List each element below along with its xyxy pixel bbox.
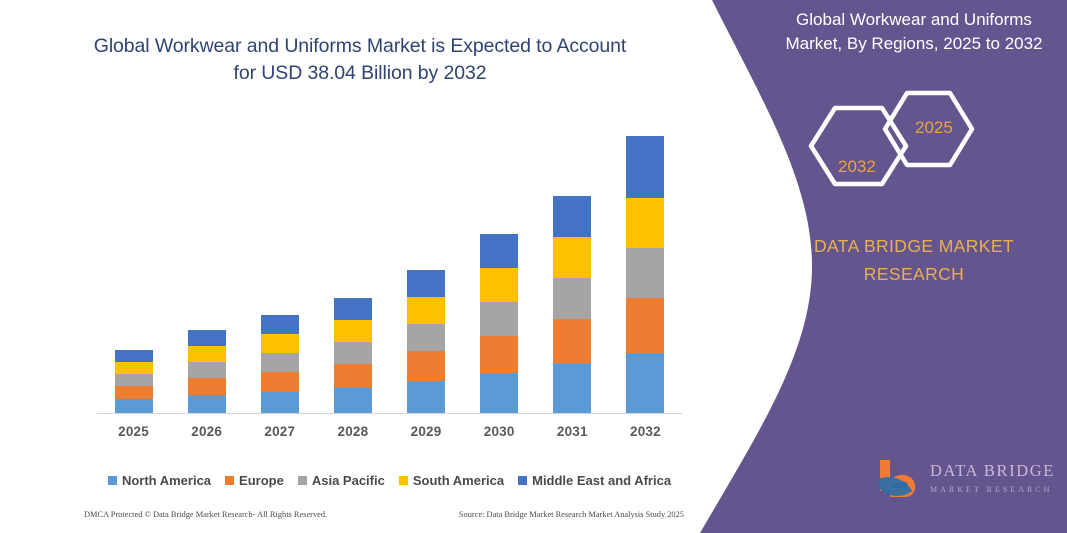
bar-column: [609, 110, 682, 413]
bar-segment: [407, 381, 445, 413]
legend-label: Asia Pacific: [312, 473, 385, 488]
bar-column: [243, 110, 316, 413]
legend-label: Europe: [239, 473, 284, 488]
bar-chart-plot-area: [97, 110, 682, 413]
bar-segment: [188, 362, 226, 378]
bar-segment: [334, 364, 372, 388]
legend-item[interactable]: North America: [108, 473, 211, 488]
bar-segment: [553, 237, 591, 278]
bar-stack: [261, 315, 299, 413]
bar-stack: [480, 234, 518, 413]
bar-segment: [261, 372, 299, 392]
x-axis-label: 2028: [316, 424, 389, 439]
bar-segment: [626, 298, 664, 353]
brand-title-line-2: Market, By Regions, 2025 to 2032: [768, 32, 1060, 56]
legend-swatch-icon: [108, 476, 117, 485]
legend-swatch-icon: [399, 476, 408, 485]
bar-segment: [553, 278, 591, 319]
bar-segment: [407, 270, 445, 297]
brand-title-line-1: Global Workwear and Uniforms: [768, 8, 1060, 32]
bar-stack: [115, 350, 153, 413]
bar-segment: [407, 297, 445, 324]
bar-segment: [480, 268, 518, 302]
bar-segment: [626, 136, 664, 198]
bar-segment: [115, 362, 153, 374]
bar-segment: [188, 346, 226, 362]
bar-column: [536, 110, 609, 413]
bar-segment: [553, 196, 591, 237]
brand-panel-title: Global Workwear and Uniforms Market, By …: [768, 8, 1060, 56]
legend-item[interactable]: South America: [399, 473, 504, 488]
bar-segment: [626, 248, 664, 298]
chart-panel: Global Workwear and Uniforms Market is E…: [0, 0, 715, 533]
bar-segment: [261, 392, 299, 413]
chart-title-line-2: for USD 38.04 Billion by 2032: [55, 60, 665, 87]
bar-column: [463, 110, 536, 413]
x-axis-label: 2029: [390, 424, 463, 439]
bar-segment: [553, 319, 591, 364]
bar-segment: [334, 342, 372, 364]
brand-name-line-1: DATA BRIDGE MARKET: [768, 232, 1060, 260]
x-axis-label: 2025: [97, 424, 170, 439]
legend-item[interactable]: Europe: [225, 473, 284, 488]
bar-column: [97, 110, 170, 413]
chart-legend: North AmericaEuropeAsia PacificSouth Ame…: [97, 470, 682, 490]
bar-segment: [334, 298, 372, 320]
bar-stack: [626, 136, 664, 413]
bar-segment: [480, 336, 518, 373]
bar-segment: [334, 388, 372, 413]
brand-panel-content: Global Workwear and Uniforms Market, By …: [760, 0, 1067, 533]
footer-copyright: DMCA Protected © Data Bridge Market Rese…: [84, 510, 327, 519]
bar-column: [170, 110, 243, 413]
bar-segment: [553, 364, 591, 413]
bar-segment: [188, 395, 226, 413]
legend-swatch-icon: [298, 476, 307, 485]
hexagon-outlines-icon: [760, 88, 1067, 198]
bar-segment: [261, 334, 299, 353]
legend-swatch-icon: [225, 476, 234, 485]
bar-segment: [407, 351, 445, 381]
brand-name: DATA BRIDGE MARKET RESEARCH: [768, 232, 1060, 288]
data-bridge-mark-icon: [872, 457, 924, 507]
infographic-root: Global Workwear and Uniforms Market is E…: [0, 0, 1067, 533]
bar-segment: [334, 320, 372, 342]
legend-item[interactable]: Middle East and Africa: [518, 473, 671, 488]
bar-segment: [261, 315, 299, 334]
x-axis-label: 2030: [463, 424, 536, 439]
bar-stack: [188, 330, 226, 413]
x-axis-labels: 20252026202720282029203020312032: [97, 420, 682, 442]
bar-segment: [188, 378, 226, 395]
legend-label: North America: [122, 473, 211, 488]
logo-subtitle: MARKET RESEARCH: [930, 485, 1052, 494]
bar-stack: [334, 298, 372, 413]
legend-label: South America: [413, 473, 504, 488]
bar-segment: [480, 302, 518, 336]
logo-wordmark: DATA BRIDGE: [930, 461, 1055, 481]
x-axis-label: 2031: [536, 424, 609, 439]
x-axis-line: [97, 413, 682, 414]
bar-segment: [261, 353, 299, 372]
bar-column: [390, 110, 463, 413]
chart-title-line-1: Global Workwear and Uniforms Market is E…: [55, 33, 665, 60]
bar-segment: [480, 234, 518, 268]
x-axis-label: 2026: [170, 424, 243, 439]
bar-segment: [115, 350, 153, 362]
company-logo: DATA BRIDGE MARKET RESEARCH: [872, 455, 1062, 511]
bar-segment: [626, 198, 664, 248]
bar-segment: [480, 373, 518, 413]
bar-column: [316, 110, 389, 413]
x-axis-label: 2032: [609, 424, 682, 439]
footer-source: Source: Data Bridge Market Research Mark…: [459, 510, 684, 519]
brand-name-line-2: RESEARCH: [768, 260, 1060, 288]
hexagon-label-back: 2032: [838, 157, 876, 177]
legend-item[interactable]: Asia Pacific: [298, 473, 385, 488]
hexagon-graphic: 2025 2032: [760, 88, 1067, 193]
footer: DMCA Protected © Data Bridge Market Rese…: [84, 506, 684, 522]
hexagon-label-front: 2025: [915, 118, 953, 138]
chart-title: Global Workwear and Uniforms Market is E…: [55, 33, 665, 87]
x-axis-label: 2027: [243, 424, 316, 439]
bar-segment: [115, 374, 153, 386]
bar-stack: [553, 196, 591, 413]
bar-stack: [407, 270, 445, 413]
bar-segment: [407, 324, 445, 351]
bar-segment: [115, 386, 153, 399]
legend-swatch-icon: [518, 476, 527, 485]
bar-segment: [188, 330, 226, 346]
bar-segment: [626, 353, 664, 413]
legend-label: Middle East and Africa: [532, 473, 671, 488]
bar-segment: [115, 399, 153, 413]
